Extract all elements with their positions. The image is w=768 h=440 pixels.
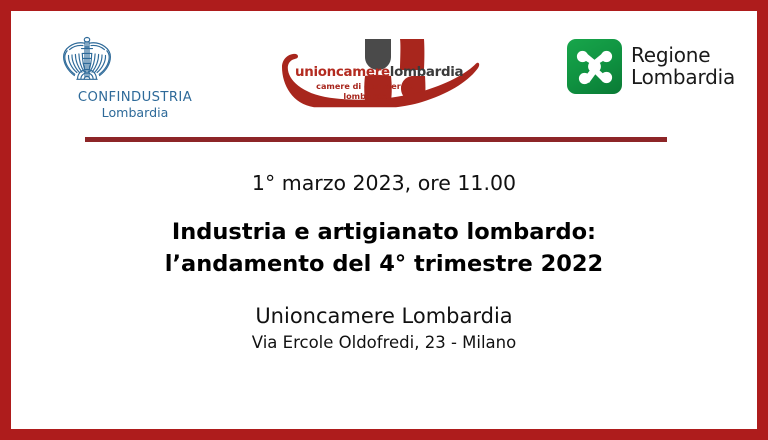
unioncamere-title-first: unioncamere (295, 65, 390, 80)
unioncamere-tagline-line2: lombarde (295, 92, 435, 102)
unioncamere-mark-wrap: unioncamerelombardia camere di commercio… (273, 33, 483, 123)
unioncamere-tagline: camere di commercio lombarde (295, 82, 435, 101)
logo-unioncamere-lombardia: unioncamerelombardia camere di commercio… (273, 33, 483, 137)
event-content: 1° marzo 2023, ore 11.00 Industria e art… (11, 171, 757, 352)
logo-confindustria-lombardia: CONFINDUSTRIA Lombardia (55, 33, 215, 137)
confindustria-eagle-emblem-icon (55, 33, 215, 89)
event-title-line2: l’andamento del 4° trimestre 2022 (11, 249, 757, 281)
regione-lombardia-name-line1: Regione (631, 45, 735, 66)
unioncamere-title-second: lombardia (390, 65, 463, 80)
logo-strip: CONFINDUSTRIA Lombardia (11, 33, 757, 145)
logo-regione-lombardia: Regione Lombardia (567, 33, 742, 137)
event-title-line1: Industria e artigianato lombardo: (11, 217, 757, 249)
regione-lombardia-name: Regione Lombardia (631, 45, 735, 87)
regione-lombardia-row: Regione Lombardia (567, 33, 742, 94)
unioncamere-title: unioncamerelombardia (295, 66, 435, 79)
rosa-camuna-icon (567, 39, 622, 94)
unioncamere-wordmark: unioncamerelombardia camere di commercio… (295, 66, 435, 102)
event-date: 1° marzo 2023, ore 11.00 (11, 171, 757, 197)
confindustria-region: Lombardia (55, 106, 215, 120)
regione-lombardia-badge (567, 39, 622, 94)
regione-lombardia-name-line2: Lombardia (631, 67, 735, 88)
event-announcement-slide: CONFINDUSTRIA Lombardia (0, 0, 768, 440)
venue-name: Unioncamere Lombardia (11, 304, 757, 329)
event-title: Industria e artigianato lombardo: l’anda… (11, 217, 757, 281)
confindustria-name: CONFINDUSTRIA (55, 91, 215, 106)
horizontal-divider (85, 137, 667, 142)
slide-inner-canvas: CONFINDUSTRIA Lombardia (11, 11, 757, 429)
venue-address: Via Ercole Oldofredi, 23 - Milano (11, 333, 757, 353)
